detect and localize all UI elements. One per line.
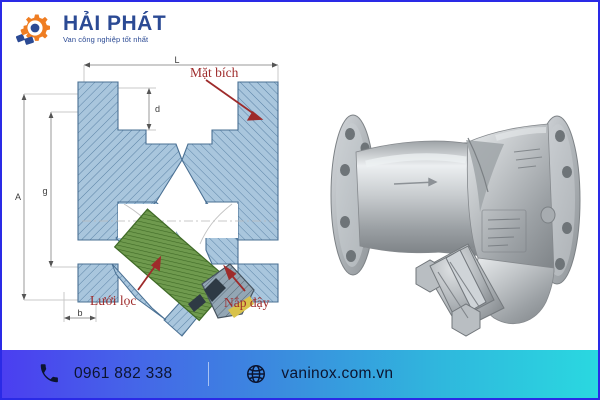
- dimension-label-L: L: [174, 55, 179, 65]
- footer-website-item[interactable]: vaninox.com.vn: [245, 363, 393, 385]
- annotation-label-nap-day: Nắp đậy: [224, 295, 269, 311]
- globe-icon: [245, 363, 267, 385]
- brand-text-block: HẢI PHÁT Van công nghiệp tốt nhất: [63, 13, 166, 44]
- site-header: HẢI PHÁT Van công nghiệp tốt nhất: [2, 2, 600, 54]
- footer-divider: [208, 362, 209, 386]
- phone-icon: [38, 363, 60, 385]
- annotation-label-mat-bich: Mặt bích: [190, 65, 238, 81]
- annotation-label-luoi-loc: Lưới lọc: [90, 293, 136, 309]
- screenshot-frame: HẢI PHÁT Van công nghiệp tốt nhất: [0, 0, 600, 400]
- dimension-label-g: g: [42, 186, 47, 196]
- brand-tagline: Van công nghiệp tốt nhất: [63, 36, 166, 44]
- brand-logo[interactable]: HẢI PHÁT Van công nghiệp tốt nhất: [14, 8, 166, 48]
- contact-footer-bar: 0961 882 338 vaninox.com.vn: [2, 350, 598, 398]
- footer-website-url: vaninox.com.vn: [281, 365, 393, 383]
- gear-logo-icon: [14, 8, 56, 48]
- stainless-steel-y-strainer-photo: [318, 60, 594, 340]
- footer-phone-item[interactable]: 0961 882 338: [38, 363, 172, 385]
- y-strainer-cross-section-diagram: L d g A b: [6, 52, 316, 342]
- footer-phone-number: 0961 882 338: [74, 365, 172, 383]
- content-stage: L d g A b: [2, 52, 598, 348]
- brand-name: HẢI PHÁT: [63, 13, 166, 34]
- dimension-label-A: A: [15, 192, 21, 202]
- dimension-label-d: d: [155, 104, 160, 114]
- dimension-label-b: b: [77, 308, 82, 318]
